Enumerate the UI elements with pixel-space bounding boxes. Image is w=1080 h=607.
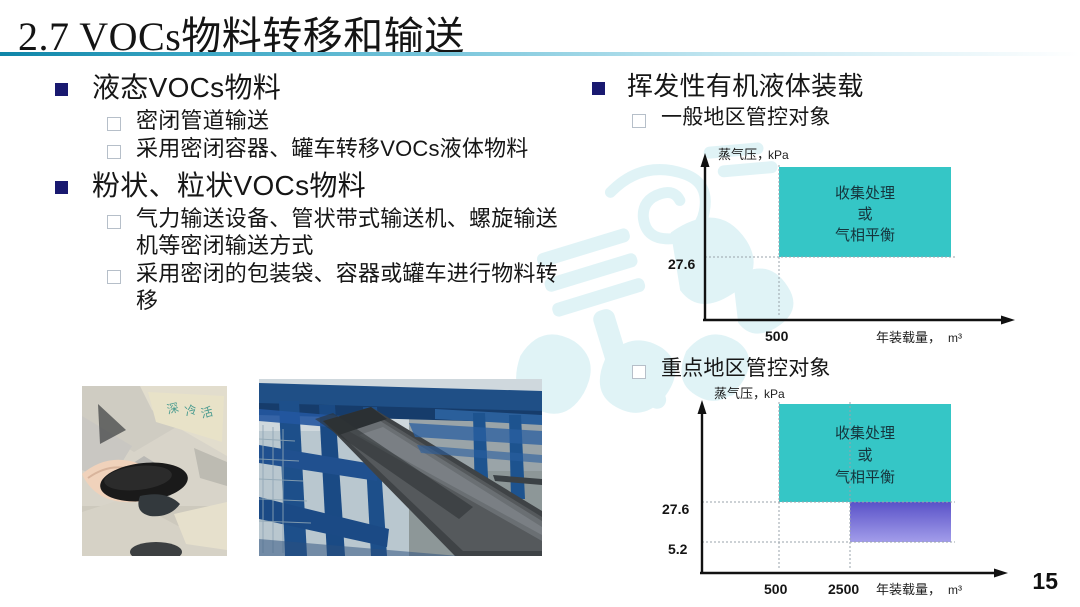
y-tick-276: 27.6: [662, 501, 689, 517]
y-axis-arrow-icon: [701, 153, 710, 167]
bullet-heading-text: 粉状、粒状VOCs物料: [92, 168, 366, 204]
subbullet-general-area: 一般地区管控对象: [632, 105, 1062, 131]
y-axis-arrow-icon: [698, 400, 707, 414]
y-tick-276: 27.6: [668, 256, 695, 272]
hollow-square-bullet-icon: [107, 145, 121, 159]
x-axis-label: 年装载量，: [876, 582, 941, 597]
bullet-heading-text: 液态VOCs物料: [92, 70, 281, 106]
x-axis-unit: m³: [948, 583, 962, 597]
x-axis-unit: m³: [948, 331, 962, 345]
x-axis-arrow-icon: [1001, 316, 1015, 325]
y-axis-unit: kPa: [764, 387, 785, 401]
subbullet-text: 采用密闭容器、罐车转移VOCs液体物料: [136, 136, 528, 163]
subbullet-text: 采用密闭的包装袋、容器或罐车进行物料转移: [136, 261, 575, 315]
photo-granule: 深 冷 活: [82, 386, 227, 556]
square-bullet-icon: [55, 83, 68, 96]
square-bullet-icon: [55, 181, 68, 194]
y-tick-52: 5.2: [668, 541, 688, 557]
chart-key-area: 蒸气压， kPa 年装载量， m³ 27.6 5.2 500 2500 收集处理…: [650, 390, 1060, 598]
x-tick-500: 500: [764, 581, 788, 597]
subbullet-closed-container: 采用密闭容器、罐车转移VOCs液体物料: [107, 136, 575, 163]
subbullet-pneumatic-conveying: 气力输送设备、管状带式输送机、螺旋输送机等密闭输送方式: [107, 206, 575, 260]
subbullet-closed-bags: 采用密闭的包装袋、容器或罐车进行物料转移: [107, 261, 575, 315]
page-number: 15: [1032, 568, 1058, 595]
square-bullet-icon: [592, 82, 605, 95]
right-content-column-2: 重点地区管控对象: [592, 355, 1062, 383]
x-tick-500: 500: [765, 328, 789, 344]
right-content-column: 挥发性有机液体装载 一般地区管控对象: [592, 70, 1062, 132]
region-label-line3: 气相平衡: [835, 469, 895, 486]
bullet-powder-vocs: 粉状、粒状VOCs物料: [55, 168, 575, 204]
chart-general-area: 蒸气压， kPa 年装载量， m³ 27.6 500 收集处理 或 气相平衡: [660, 145, 1060, 345]
title-divider: [0, 52, 1080, 56]
hollow-square-bullet-icon: [632, 365, 646, 379]
subbullet-closed-pipeline: 密闭管道输送: [107, 108, 575, 135]
region-label-line2: 或: [857, 206, 872, 223]
y-axis-label: 蒸气压，: [718, 147, 770, 162]
region-label-line1: 收集处理: [835, 425, 895, 442]
hollow-square-bullet-icon: [107, 215, 121, 229]
region-label-line1: 收集处理: [835, 185, 895, 202]
photo-conveyor: [259, 379, 542, 556]
bullet-heading-text: 挥发性有机液体装载: [627, 70, 864, 103]
region-label-line2: 或: [857, 447, 872, 464]
chart-region-vapor-balance: [850, 502, 951, 542]
subbullet-text: 一般地区管控对象: [661, 105, 831, 131]
region-label-line3: 气相平衡: [835, 227, 895, 244]
y-axis-label: 蒸气压，: [714, 386, 766, 401]
x-tick-2500: 2500: [828, 581, 859, 597]
bullet-volatile-liquid-loading: 挥发性有机液体装载: [592, 70, 1062, 103]
x-axis-label: 年装载量，: [876, 330, 941, 345]
subbullet-text: 重点地区管控对象: [661, 356, 831, 382]
subbullet-key-area: 重点地区管控对象: [632, 356, 1062, 382]
subbullet-text: 密闭管道输送: [136, 108, 269, 135]
y-axis-unit: kPa: [768, 148, 789, 162]
left-content-column: 液态VOCs物料 密闭管道输送 采用密闭容器、罐车转移VOCs液体物料 粉状、粒…: [55, 70, 575, 316]
x-axis-arrow-icon: [994, 569, 1008, 578]
subbullet-text: 气力输送设备、管状带式输送机、螺旋输送机等密闭输送方式: [136, 206, 575, 260]
hollow-square-bullet-icon: [107, 117, 121, 131]
bullet-liquid-vocs: 液态VOCs物料: [55, 70, 575, 106]
hollow-square-bullet-icon: [107, 270, 121, 284]
hollow-square-bullet-icon: [632, 114, 646, 128]
slide-root: 2.7 VOCs物料转移和输送 液态VOCs物料 密闭管道输送 采用密闭容器、罐…: [0, 0, 1080, 607]
